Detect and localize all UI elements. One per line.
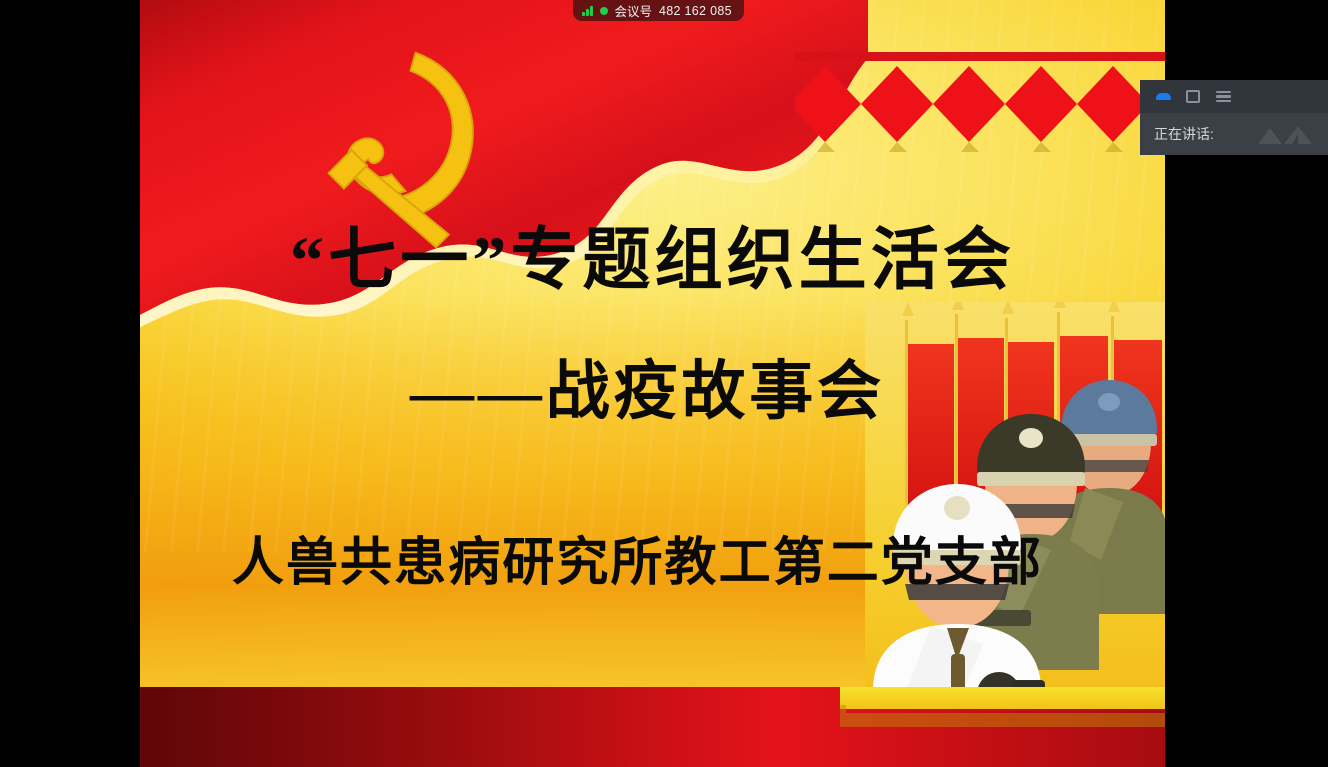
panel-titlebar[interactable] (1140, 80, 1328, 113)
slide-title-line3: 人兽共患病研究所教工第二党支部 (140, 538, 1165, 590)
slide-title-line2: ——战疫故事会 (140, 360, 1165, 424)
meeting-id-bar[interactable]: 会议号 482 162 085 (573, 0, 744, 21)
speaking-label: 正在讲话: (1154, 124, 1214, 144)
slide-text-block: “七一”专题组织生活会 ——战疫故事会 人兽共患病研究所教工第二党支部 (140, 0, 1165, 767)
minimize-icon[interactable] (1154, 88, 1172, 106)
screen-root: “七一”专题组织生活会 ——战疫故事会 人兽共患病研究所教工第二党支部 会议号 … (0, 0, 1328, 767)
meeting-id-number: 482 162 085 (659, 4, 732, 18)
floating-control-panel[interactable]: 正在讲话: (1140, 80, 1328, 155)
green-status-dot-icon (600, 7, 608, 15)
restore-window-icon[interactable] (1184, 88, 1202, 106)
signal-bars-icon (582, 6, 593, 16)
panel-speaking-row: 正在讲话: (1140, 113, 1328, 155)
slide-title-line1: “七一”专题组织生活会 (140, 226, 1165, 294)
presentation-slide[interactable]: “七一”专题组织生活会 ——战疫故事会 人兽共患病研究所教工第二党支部 (140, 0, 1165, 767)
app-logo-watermark-icon (1254, 120, 1320, 148)
meeting-id-label: 会议号 (615, 1, 653, 20)
hamburger-menu-icon[interactable] (1214, 88, 1232, 106)
